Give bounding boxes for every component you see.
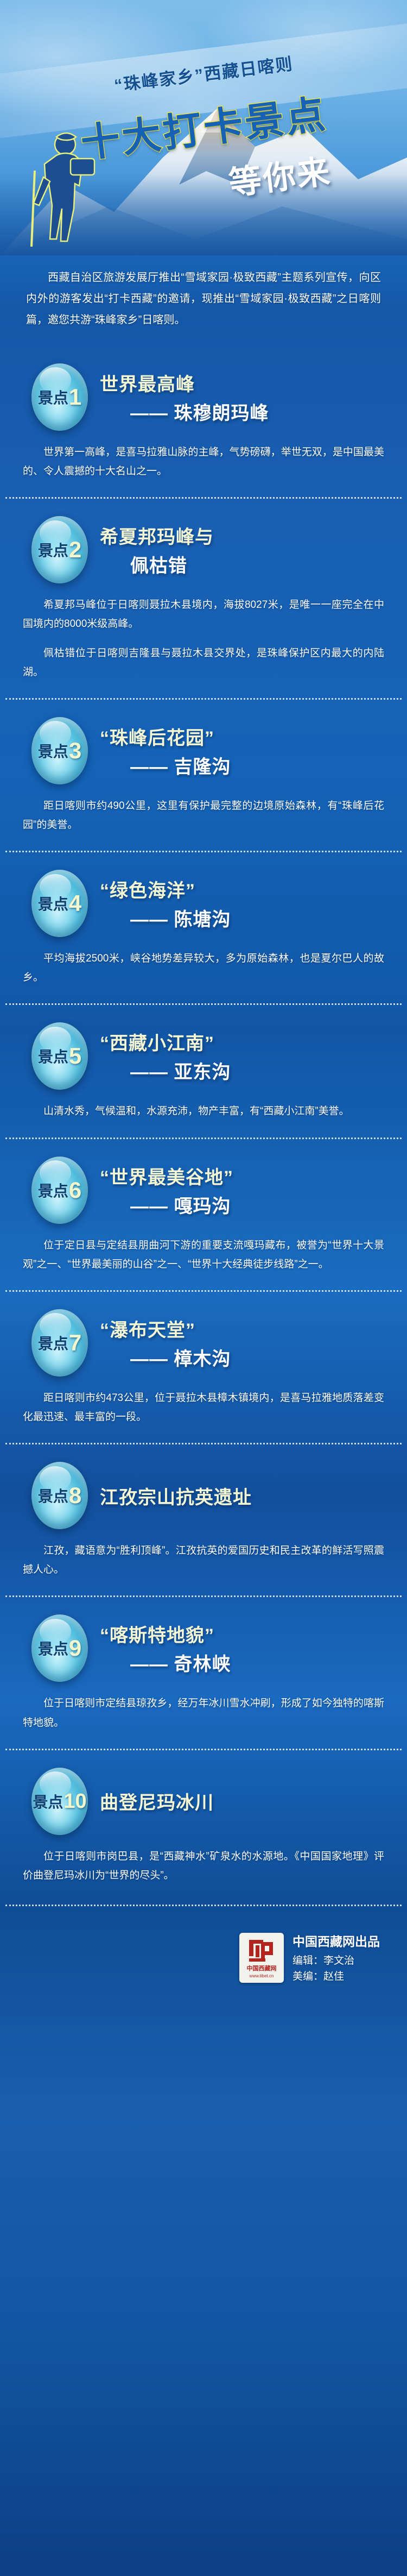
attraction-section: 景点6“世界最美谷地”—— 嘎玛沟位于定日县与定结县朋曲河下游的重要支流嘎玛藏布… [0, 1142, 407, 1295]
attraction-title-primary: “喀斯特地貌” [100, 1620, 385, 1647]
attraction-title-primary: “瀑布天堂” [100, 1315, 385, 1342]
badge-number: 1 [69, 386, 81, 409]
attraction-description: 江孜，藏语意为“胜利顶峰”。江孜抗英的爱国历史和民主改革的鲜活写照震撼人心。 [0, 1532, 407, 1595]
attraction-title-secondary: 佩枯错 [100, 551, 385, 577]
logo-name: 中国西藏网 [247, 1964, 277, 1972]
description-paragraph: 位于日喀则市定结县琼孜乡，经万年冰川雪水冲刷，形成了如今独特的喀斯特地貌。 [23, 1694, 384, 1732]
attraction-title-primary: “世界最美谷地” [100, 1163, 385, 1189]
section-divider [5, 1749, 402, 1750]
attraction-titles: “喀斯特地貌”—— 奇林峡 [100, 1620, 385, 1676]
description-paragraph: 平均海拔2500米，峡谷地势差异较大，多为原始森林，也是夏尔巴人的故乡。 [23, 949, 384, 987]
attraction-titles: “西藏小江南”—— 亚东沟 [100, 1028, 385, 1084]
hiker-silhouette-icon [18, 130, 111, 253]
attraction-number-badge: 景点6 [31, 1157, 88, 1224]
attraction-titles: 世界最高峰—— 珠穆朗玛峰 [100, 369, 385, 425]
description-paragraph: 距日喀则市约473公里，位于聂拉木县樟木镇境内，是喜马拉雅地质落差变化最迅速、最… [23, 1388, 384, 1427]
badge-text: 景点4 [31, 870, 88, 937]
attraction-titles: “绿色海洋”—— 陈塘沟 [100, 876, 385, 931]
attraction-titles: 希夏邦玛峰与佩枯错 [100, 522, 385, 577]
attraction-title-primary: 江孜宗山抗英遗址 [100, 1482, 385, 1509]
badge-text: 景点7 [31, 1309, 88, 1377]
attraction-header: 景点7“瀑布天堂”—— 樟木沟 [0, 1295, 407, 1380]
attraction-section: 景点5“西藏小江南”—— 亚东沟山清水秀，气候温和，水源充沛，物产丰富，有“西藏… [0, 1008, 407, 1142]
attraction-title-primary: 曲登尼玛冰川 [100, 1788, 385, 1814]
attraction-section: 景点8江孜宗山抗英遗址江孜，藏语意为“胜利顶峰”。江孜抗英的爱国历史和民主改革的… [0, 1448, 407, 1600]
attraction-titles: 曲登尼玛冰川 [100, 1788, 385, 1814]
logo-seal-icon [247, 1938, 276, 1963]
description-paragraph: 世界第一高峰，是喜马拉雅山脉的主峰，气势磅礴，举世无双，是中国最美的、令人震撼的… [23, 443, 384, 481]
description-paragraph: 距日喀则市约490公里，这里有保护最完整的边境原始森林，有“珠峰后花园”的美誉。 [23, 796, 384, 834]
attraction-header: 景点3“珠峰后花园”—— 吉隆沟 [0, 703, 407, 788]
attraction-description: 位于定日县与定结县朋曲河下游的重要支流嘎玛藏布，被誉为“世界十大景观”之一、“世… [0, 1227, 407, 1290]
attraction-number-badge: 景点10 [31, 1768, 88, 1835]
badge-label: 景点 [33, 1790, 63, 1812]
produced-by: 中国西藏网出品 [292, 1931, 380, 1950]
attraction-description: 位于日喀则市岗巴县，是“西藏神水”矿泉水的水源地。《中国国家地理》评价曲登尼玛冰… [0, 1838, 407, 1901]
attraction-section: 景点4“绿色海洋”—— 陈塘沟平均海拔2500米，峡谷地势差异较大，多为原始森林… [0, 856, 407, 1008]
attraction-header: 景点9“喀斯特地貌”—— 奇林峡 [0, 1600, 407, 1685]
attraction-title-primary: “珠峰后花园” [100, 723, 385, 750]
intro-block: 西藏自治区旅游发展厅推出“雪域家园·极致西藏”主题系列宣传，向区内外的游客发出“… [0, 255, 407, 349]
section-divider [5, 1138, 402, 1139]
attraction-title-secondary: —— 吉隆沟 [100, 752, 385, 778]
badge-number: 6 [69, 1179, 81, 1202]
section-divider [5, 1595, 402, 1597]
attraction-description: 距日喀则市约473公里，位于聂拉木县樟木镇境内，是喜马拉雅地质落差变化最迅速、最… [0, 1380, 407, 1443]
china-tibet-net-logo-icon: 中国西藏网 www.tibet.cn [239, 1933, 284, 1983]
description-paragraph: 位于定日县与定结县朋曲河下游的重要支流嘎玛藏布，被誉为“世界十大景观”之一、“世… [23, 1236, 384, 1274]
attraction-header: 景点6“世界最美谷地”—— 嘎玛沟 [0, 1142, 407, 1227]
attraction-number-badge: 景点3 [31, 717, 88, 784]
attraction-title-primary: “绿色海洋” [100, 876, 385, 902]
attraction-description: 平均海拔2500米，峡谷地势差异较大，多为原始森林，也是夏尔巴人的故乡。 [0, 940, 407, 1003]
badge-label: 景点 [38, 386, 68, 408]
badge-text: 景点10 [31, 1768, 88, 1835]
badge-text: 景点8 [31, 1462, 88, 1529]
description-paragraph: 山清水秀，气候温和，水源充沛，物产丰富，有“西藏小江南”美誉。 [23, 1102, 384, 1121]
attraction-title-primary: 希夏邦玛峰与 [100, 522, 385, 549]
attraction-title-secondary: —— 珠穆朗玛峰 [100, 398, 385, 425]
attraction-section: 景点1世界最高峰—— 珠穆朗玛峰世界第一高峰，是喜马拉雅山脉的主峰，气势磅礴，举… [0, 349, 407, 502]
description-paragraph: 佩枯错位于日喀则吉隆县与聂拉木县交界处，是珠峰保护区内最大的内陆湖。 [23, 644, 384, 682]
attraction-header: 景点5“西藏小江南”—— 亚东沟 [0, 1008, 407, 1093]
attraction-title-secondary: —— 陈塘沟 [100, 904, 385, 931]
attraction-section: 景点10曲登尼玛冰川位于日喀则市岗巴县，是“西藏神水”矿泉水的水源地。《中国国家… [0, 1754, 407, 1905]
attraction-titles: “珠峰后花园”—— 吉隆沟 [100, 723, 385, 778]
attraction-title-secondary: —— 樟木沟 [100, 1344, 385, 1371]
editor-credit: 编辑：李文治 [292, 1953, 380, 1969]
badge-text: 景点5 [31, 1022, 88, 1090]
badge-label: 景点 [38, 1179, 68, 1201]
badge-text: 景点6 [31, 1157, 88, 1224]
badge-number: 7 [69, 1331, 81, 1354]
attraction-list: 景点1世界最高峰—— 珠穆朗玛峰世界第一高峰，是喜马拉雅山脉的主峰，气势磅礴，举… [0, 349, 407, 1905]
attraction-number-badge: 景点7 [31, 1309, 88, 1377]
badge-text: 景点2 [31, 516, 88, 583]
description-paragraph: 江孜，藏语意为“胜利顶峰”。江孜抗英的爱国历史和民主改革的鲜活写照震撼人心。 [23, 1541, 384, 1579]
description-paragraph: 位于日喀则市岗巴县，是“西藏神水”矿泉水的水源地。《中国国家地理》评价曲登尼玛冰… [23, 1847, 384, 1885]
attraction-section: 景点3“珠峰后花园”—— 吉隆沟距日喀则市约490公里，这里有保护最完整的边境原… [0, 703, 407, 856]
badge-label: 景点 [38, 539, 68, 561]
section-divider [5, 1443, 402, 1444]
badge-label: 景点 [38, 1332, 68, 1354]
attraction-number-badge: 景点8 [31, 1462, 88, 1529]
attraction-title-primary: 世界最高峰 [100, 369, 385, 396]
attraction-description: 位于日喀则市定结县琼孜乡，经万年冰川雪水冲刷，形成了如今独特的喀斯特地貌。 [0, 1685, 407, 1748]
attraction-section: 景点9“喀斯特地貌”—— 奇林峡位于日喀则市定结县琼孜乡，经万年冰川雪水冲刷，形… [0, 1600, 407, 1753]
hero-banner: “珠峰家乡”西藏日喀则 十大打卡景点 等你来 [0, 0, 407, 255]
section-divider [5, 1290, 402, 1292]
infographic-page: “珠峰家乡”西藏日喀则 十大打卡景点 等你来 西藏自治区旅游发展厅推出“雪域家园… [0, 0, 407, 2576]
section-divider [5, 497, 402, 499]
badge-label: 景点 [38, 1045, 68, 1067]
attraction-number-badge: 景点2 [31, 516, 88, 583]
attraction-title-secondary: —— 嘎玛沟 [100, 1191, 385, 1218]
attraction-description: 希夏邦马峰位于日喀则聂拉木县境内，海拔8027米，是唯一一座完全在中国境内的80… [0, 587, 407, 698]
attraction-titles: 江孜宗山抗英遗址 [100, 1482, 385, 1509]
intro-paragraph: 西藏自治区旅游发展厅推出“雪域家园·极致西藏”主题系列宣传，向区内外的游客发出“… [26, 267, 381, 331]
attraction-title-primary: “西藏小江南” [100, 1028, 385, 1055]
attraction-description: 世界第一高峰，是喜马拉雅山脉的主峰，气势磅礴，举世无双，是中国最美的、令人震撼的… [0, 434, 407, 497]
attraction-number-badge: 景点5 [31, 1022, 88, 1090]
attraction-title-secondary: —— 亚东沟 [100, 1057, 385, 1084]
badge-text: 景点9 [31, 1614, 88, 1682]
attraction-section: 景点2希夏邦玛峰与佩枯错希夏邦马峰位于日喀则聂拉木县境内，海拔8027米，是唯一… [0, 502, 407, 703]
badge-number: 5 [69, 1045, 81, 1067]
attraction-section: 景点7“瀑布天堂”—— 樟木沟距日喀则市约473公里，位于聂拉木县樟木镇境内，是… [0, 1295, 407, 1448]
badge-number: 9 [69, 1637, 81, 1660]
attraction-titles: “瀑布天堂”—— 樟木沟 [100, 1315, 385, 1371]
badge-text: 景点1 [31, 363, 88, 431]
attraction-number-badge: 景点4 [31, 870, 88, 937]
attraction-header: 景点1世界最高峰—— 珠穆朗玛峰 [0, 349, 407, 434]
badge-number: 4 [69, 892, 81, 915]
attraction-description: 山清水秀，气候温和，水源充沛，物产丰富，有“西藏小江南”美誉。 [0, 1093, 407, 1137]
logo-url: www.tibet.cn [250, 1974, 274, 1978]
section-divider [5, 1003, 402, 1005]
designer-credit: 美编：赵佳 [292, 1969, 380, 1984]
attraction-title-secondary: —— 奇林峡 [100, 1649, 385, 1676]
attraction-number-badge: 景点9 [31, 1614, 88, 1682]
badge-label: 景点 [38, 1485, 68, 1506]
attraction-number-badge: 景点1 [31, 363, 88, 431]
badge-label: 景点 [38, 740, 68, 762]
credits-text: 中国西藏网出品 编辑：李文治 美编：赵佳 [292, 1931, 380, 1985]
attraction-titles: “世界最美谷地”—— 嘎玛沟 [100, 1163, 385, 1218]
attraction-header: 景点2希夏邦玛峰与佩枯错 [0, 502, 407, 587]
badge-label: 景点 [38, 893, 68, 914]
badge-number: 8 [69, 1484, 81, 1507]
attraction-description: 距日喀则市约490公里，这里有保护最完整的边境原始森林，有“珠峰后花园”的美誉。 [0, 788, 407, 851]
badge-number: 3 [69, 739, 81, 762]
badge-text: 景点3 [31, 717, 88, 784]
badge-label: 景点 [38, 1637, 68, 1659]
badge-number: 2 [69, 538, 81, 561]
section-divider [5, 851, 402, 852]
badge-number: 10 [63, 1791, 86, 1812]
attraction-header: 景点10曲登尼玛冰川 [0, 1754, 407, 1838]
attraction-header: 景点8江孜宗山抗英遗址 [0, 1448, 407, 1532]
description-paragraph: 希夏邦马峰位于日喀则聂拉木县境内，海拔8027米，是唯一一座完全在中国境内的80… [23, 595, 384, 633]
section-divider [5, 698, 402, 700]
attraction-header: 景点4“绿色海洋”—— 陈塘沟 [0, 856, 407, 940]
footer-credits: 中国西藏网 www.tibet.cn 中国西藏网出品 编辑：李文治 美编：赵佳 [0, 1906, 407, 2014]
